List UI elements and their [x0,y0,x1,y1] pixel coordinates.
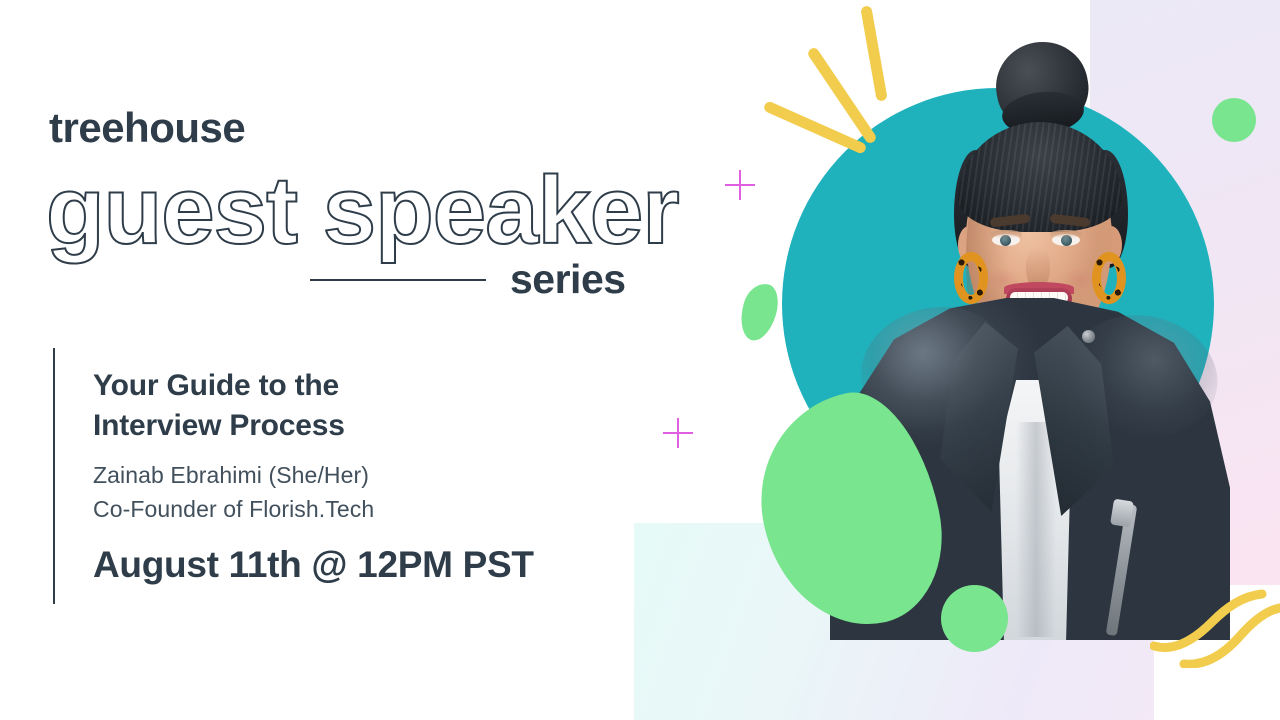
session-datetime: August 11th @ 12PM PST [93,544,613,586]
eyelid-left [990,230,1022,238]
session-details: Your Guide to the Interview Process Zain… [53,348,613,604]
hair-top [958,122,1122,232]
plus-mark-icon [725,170,755,200]
speaker-name: Zainab Ebrahimi (She/Her) [93,459,613,492]
speaker-role: Co-Founder of Florish.Tech [93,493,613,526]
shirt-fold [1016,422,1056,637]
eyelid-right [1050,230,1082,238]
page-title: guest speaker [46,156,679,266]
series-row: series [310,256,626,303]
plus-mark-icon [663,418,693,448]
jacket-zipper-pull-icon [1110,499,1134,528]
series-divider [310,279,486,281]
talk-title: Your Guide to the Interview Process [93,366,613,445]
green-blob-small [735,279,784,344]
earring-right-icon [1092,252,1126,304]
yellow-squiggle-icon [1150,578,1280,668]
talk-title-line-2: Interview Process [93,406,613,446]
series-label: series [510,256,626,303]
promo-slide: treehouse guest speaker series Your Guid… [0,0,1280,720]
green-dot-top-right [1212,98,1256,142]
talk-title-line-1: Your Guide to the [93,366,613,406]
earring-left-icon [954,252,988,304]
jacket-snap-stud [1082,330,1095,343]
green-dot-bottom [941,585,1008,652]
treehouse-wordmark: treehouse [49,104,245,152]
